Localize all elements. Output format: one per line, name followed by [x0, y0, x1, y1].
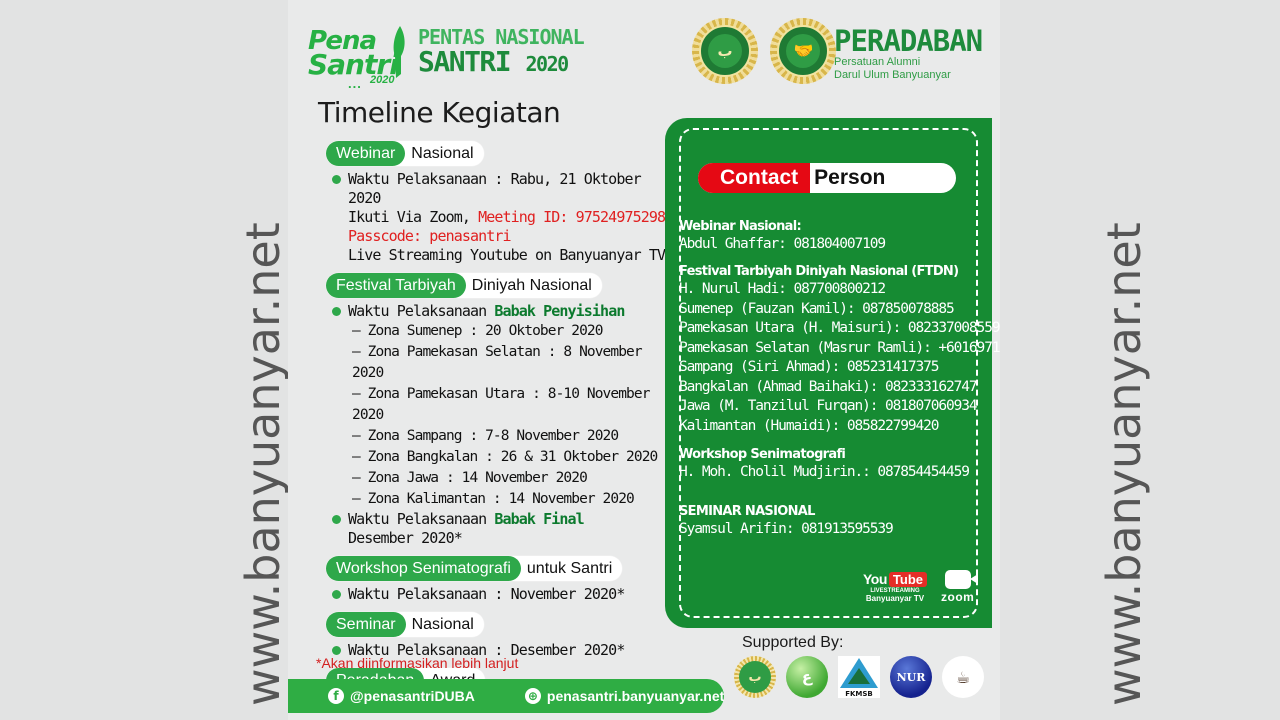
- social-footer-bar: f @penasantriDUBA ⊕ penasantri.banyuanya…: [288, 679, 724, 713]
- sponsor-4-glyph: NUR: [897, 671, 926, 684]
- peradaban-name: PERADABAN: [834, 26, 982, 56]
- section-pill-rest: Nasional: [406, 616, 474, 634]
- emblem2-glyph: 🤝: [793, 41, 813, 61]
- bullet-dot-icon: [332, 307, 341, 316]
- sponsor-darul-ulum-icon: ب: [734, 656, 776, 698]
- bullet-text: Waktu Pelaksanaan : November 2020*: [348, 585, 624, 604]
- contact-group-heading: Webinar Nasional:: [679, 218, 885, 235]
- contact-line: Syamsul Arifin: 081913595539: [679, 520, 893, 540]
- contact-group-heading: Workshop Senimatografi: [679, 446, 969, 463]
- zoom-logo: zoom: [941, 570, 974, 604]
- bullet-text: Waktu Pelaksanaan : Rabu, 21 Oktober 202…: [348, 170, 678, 208]
- badge-person-text: Person: [810, 163, 895, 193]
- sub-item: – Zona Pamekasan Selatan : 8 November 20…: [352, 342, 678, 384]
- timeline-section: Workshop Senimatografiuntuk SantriWaktu …: [318, 552, 678, 604]
- facebook-icon: f: [328, 688, 344, 704]
- sub-item: – Zona Kalimantan : 14 November 2020: [352, 489, 678, 510]
- event-title-line2: SANTRI 2020: [418, 48, 584, 78]
- bullet-continuation: Ikuti Via Zoom, Meeting ID: 97524975298,: [348, 208, 678, 227]
- section-bullets: Waktu Pelaksanaan : November 2020*: [332, 585, 678, 604]
- contact-line: H. Moh. Cholil Mudjirin.: 087854454459: [679, 463, 969, 483]
- contact-line: Sumenep (Fauzan Kamil): 087850078885: [679, 300, 1000, 320]
- contact-line: Jawa (M. Tanzilul Furqan): 081807060934: [679, 397, 1000, 417]
- website-url: penasantri.banyuanyar.net: [547, 688, 724, 704]
- contact-line: Kalimantan (Humaidi): 085822799420: [679, 417, 1000, 437]
- section-pill-highlight: Workshop Senimatografi: [326, 556, 521, 581]
- watermark-left: www.banyuanyar.net: [236, 222, 290, 706]
- event-title-santri: SANTRI: [418, 45, 510, 78]
- bullet-row: Waktu Pelaksanaan Babak Final: [332, 510, 678, 529]
- sub-item: – Zona Sampang : 7-8 November 2020: [352, 426, 678, 447]
- section-pill-highlight: Webinar: [326, 141, 405, 166]
- bullet-row: Waktu Pelaksanaan : November 2020*: [332, 585, 678, 604]
- youtube-logo: You Tube LIVESTREAMING Banyuanyar TV: [863, 571, 927, 603]
- event-title-block: PENTAS NASIONAL SANTRI 2020: [418, 26, 584, 78]
- contact-line: Bangkalan (Ahmad Baihaki): 082333162747: [679, 378, 1000, 398]
- contact-group-webinar: Webinar Nasional: Abdul Ghaffar: 0818040…: [679, 218, 885, 255]
- sub-item: – Zona Bangkalan : 26 & 31 Oktober 2020: [352, 447, 678, 468]
- sponsor-kopi-icon: ☕: [942, 656, 984, 698]
- timeline-column: Timeline Kegiatan WebinarNasionalWaktu P…: [318, 96, 678, 720]
- footnote: *Akan diinformasikan lebih lanjut: [316, 655, 518, 671]
- contact-line: Pamekasan Utara (H. Maisuri): 0823370085…: [679, 319, 1000, 339]
- bullet-text: Waktu Pelaksanaan Babak Final: [348, 510, 584, 529]
- timeline-section: SeminarNasionalWaktu Pelaksanaan : Desem…: [318, 608, 678, 660]
- contact-group-workshop: Workshop Senimatografi H. Moh. Cholil Mu…: [679, 446, 969, 483]
- youtube-you-text: You: [863, 571, 887, 587]
- org-emblems: ب 🤝: [692, 18, 836, 84]
- contact-group-heading: Festival Tarbiyah Diniyah Nasional (FTDN…: [679, 263, 1000, 280]
- emblem-darul-ulum-icon: ب: [692, 18, 758, 84]
- badge-contact-text: Contact: [698, 163, 810, 193]
- sponsor-fkmsb-icon: FKMSB: [838, 656, 880, 698]
- sponsor-5-glyph: ☕: [956, 668, 970, 687]
- section-pill-highlight: Seminar: [326, 612, 406, 637]
- peradaban-wordmark: PERADABAN Persatuan Alumni Darul Ulum Ba…: [834, 26, 982, 82]
- youtube-tube-text: Tube: [889, 572, 927, 587]
- website-link[interactable]: ⊕ penasantri.banyuanyar.net: [525, 688, 724, 704]
- poster-stage: www.banyuanyar.net www.banyuanyar.net Pe…: [0, 0, 1280, 720]
- contact-line: Abdul Ghaffar: 081804007109: [679, 235, 885, 255]
- bullet-continuation: Desember 2020*: [348, 529, 678, 548]
- section-pill: Workshop Senimatografiuntuk Santri: [326, 556, 622, 581]
- pena-santri-logo: Pena Santri ... 2020: [308, 20, 423, 88]
- contact-line: Pamekasan Selatan (Masrur Ramli): +60169…: [679, 339, 1000, 359]
- emblem-peradaban-icon: 🤝: [770, 18, 836, 84]
- bullet-dot-icon: [332, 590, 341, 599]
- section-bullets: Waktu Pelaksanaan Babak Penyisihan– Zona…: [332, 302, 678, 548]
- supported-by-title: Supported By:: [742, 634, 1000, 652]
- section-bullets: Waktu Pelaksanaan : Rabu, 21 Oktober 202…: [332, 170, 678, 265]
- contact-line: H. Nurul Hadi: 087700800212: [679, 280, 1000, 300]
- section-pill-rest: Diniyah Nasional: [466, 277, 592, 295]
- sponsor-1-glyph: ب: [739, 661, 771, 693]
- bullet-continuation: Live Streaming Youtube on Banyuanyar TV: [348, 246, 678, 265]
- poster-header: Pena Santri ... 2020 PENTAS NASIONAL SAN…: [288, 8, 1000, 94]
- emblem1-glyph: ب: [717, 42, 732, 60]
- section-pill: SeminarNasional: [326, 612, 484, 637]
- sub-item: – Zona Jawa : 14 November 2020: [352, 468, 678, 489]
- pena-logo-dots: ...: [348, 76, 362, 91]
- section-pill-highlight: Festival Tarbiyah: [326, 273, 466, 298]
- sub-item: – Zona Sumenep : 20 Oktober 2020: [352, 321, 678, 342]
- poster-card: Pena Santri ... 2020 PENTAS NASIONAL SAN…: [288, 0, 1000, 720]
- section-pill-rest: untuk Santri: [521, 560, 612, 578]
- facebook-handle: @penasantriDUBA: [350, 688, 475, 704]
- supported-by-section: Supported By: ب ع FKMSB NUR ☕: [728, 634, 1000, 698]
- bullet-text: Waktu Pelaksanaan Babak Penyisihan: [348, 302, 624, 321]
- timeline-sections: WebinarNasionalWaktu Pelaksanaan : Rabu,…: [318, 137, 678, 716]
- section-pill: Festival TarbiyahDiniyah Nasional: [326, 273, 602, 298]
- contact-person-badge: Contact Person: [698, 163, 956, 193]
- contact-group-heading: SEMINAR NASIONAL: [679, 503, 893, 520]
- bullet-row: Waktu Pelaksanaan Babak Penyisihan: [332, 302, 678, 321]
- sponsor-nur-icon: NUR: [890, 656, 932, 698]
- event-title-year: 2020: [526, 52, 568, 76]
- sponsor-3-label: FKMSB: [838, 690, 880, 698]
- section-pill-rest: Nasional: [405, 145, 473, 163]
- zoom-label: zoom: [941, 590, 974, 604]
- bullet-row: Waktu Pelaksanaan : Rabu, 21 Oktober 202…: [332, 170, 678, 208]
- contact-group-seminar: SEMINAR NASIONAL Syamsul Arifin: 0819135…: [679, 503, 893, 540]
- banyuanyar-tv-label: Banyuanyar TV: [863, 594, 927, 603]
- bullet-continuation: Passcode: penasantri: [348, 227, 678, 246]
- sponsor-logos: ب ع FKMSB NUR ☕: [734, 656, 1000, 698]
- contact-group-ftdn: Festival Tarbiyah Diniyah Nasional (FTDN…: [679, 263, 1000, 436]
- sub-item: – Zona Pamekasan Utara : 8-10 November 2…: [352, 384, 678, 426]
- sponsor-2-glyph: ع: [802, 668, 812, 686]
- page-title: Timeline Kegiatan: [318, 96, 678, 129]
- section-pill: WebinarNasional: [326, 141, 484, 166]
- timeline-section: WebinarNasionalWaktu Pelaksanaan : Rabu,…: [318, 137, 678, 265]
- contact-line: Sampang (Siri Ahmad): 085231417375: [679, 358, 1000, 378]
- streaming-logos: You Tube LIVESTREAMING Banyuanyar TV zoo…: [863, 570, 974, 604]
- facebook-link[interactable]: f @penasantriDUBA: [328, 688, 475, 704]
- timeline-section: Festival TarbiyahDiniyah NasionalWaktu P…: [318, 269, 678, 548]
- pen-leaf-icon: [390, 26, 408, 78]
- sponsor-green-circle-icon: ع: [786, 656, 828, 698]
- watermark-right: www.banyuanyar.net: [1097, 222, 1151, 706]
- bullet-dot-icon: [332, 515, 341, 524]
- bullet-dot-icon: [332, 646, 341, 655]
- peradaban-sub2: Darul Ulum Banyuanyar: [834, 69, 982, 82]
- globe-icon: ⊕: [525, 688, 541, 704]
- contact-person-panel: Contact Person Webinar Nasional: Abdul G…: [665, 118, 992, 628]
- zoom-camera-icon: [945, 570, 971, 589]
- bullet-dot-icon: [332, 175, 341, 184]
